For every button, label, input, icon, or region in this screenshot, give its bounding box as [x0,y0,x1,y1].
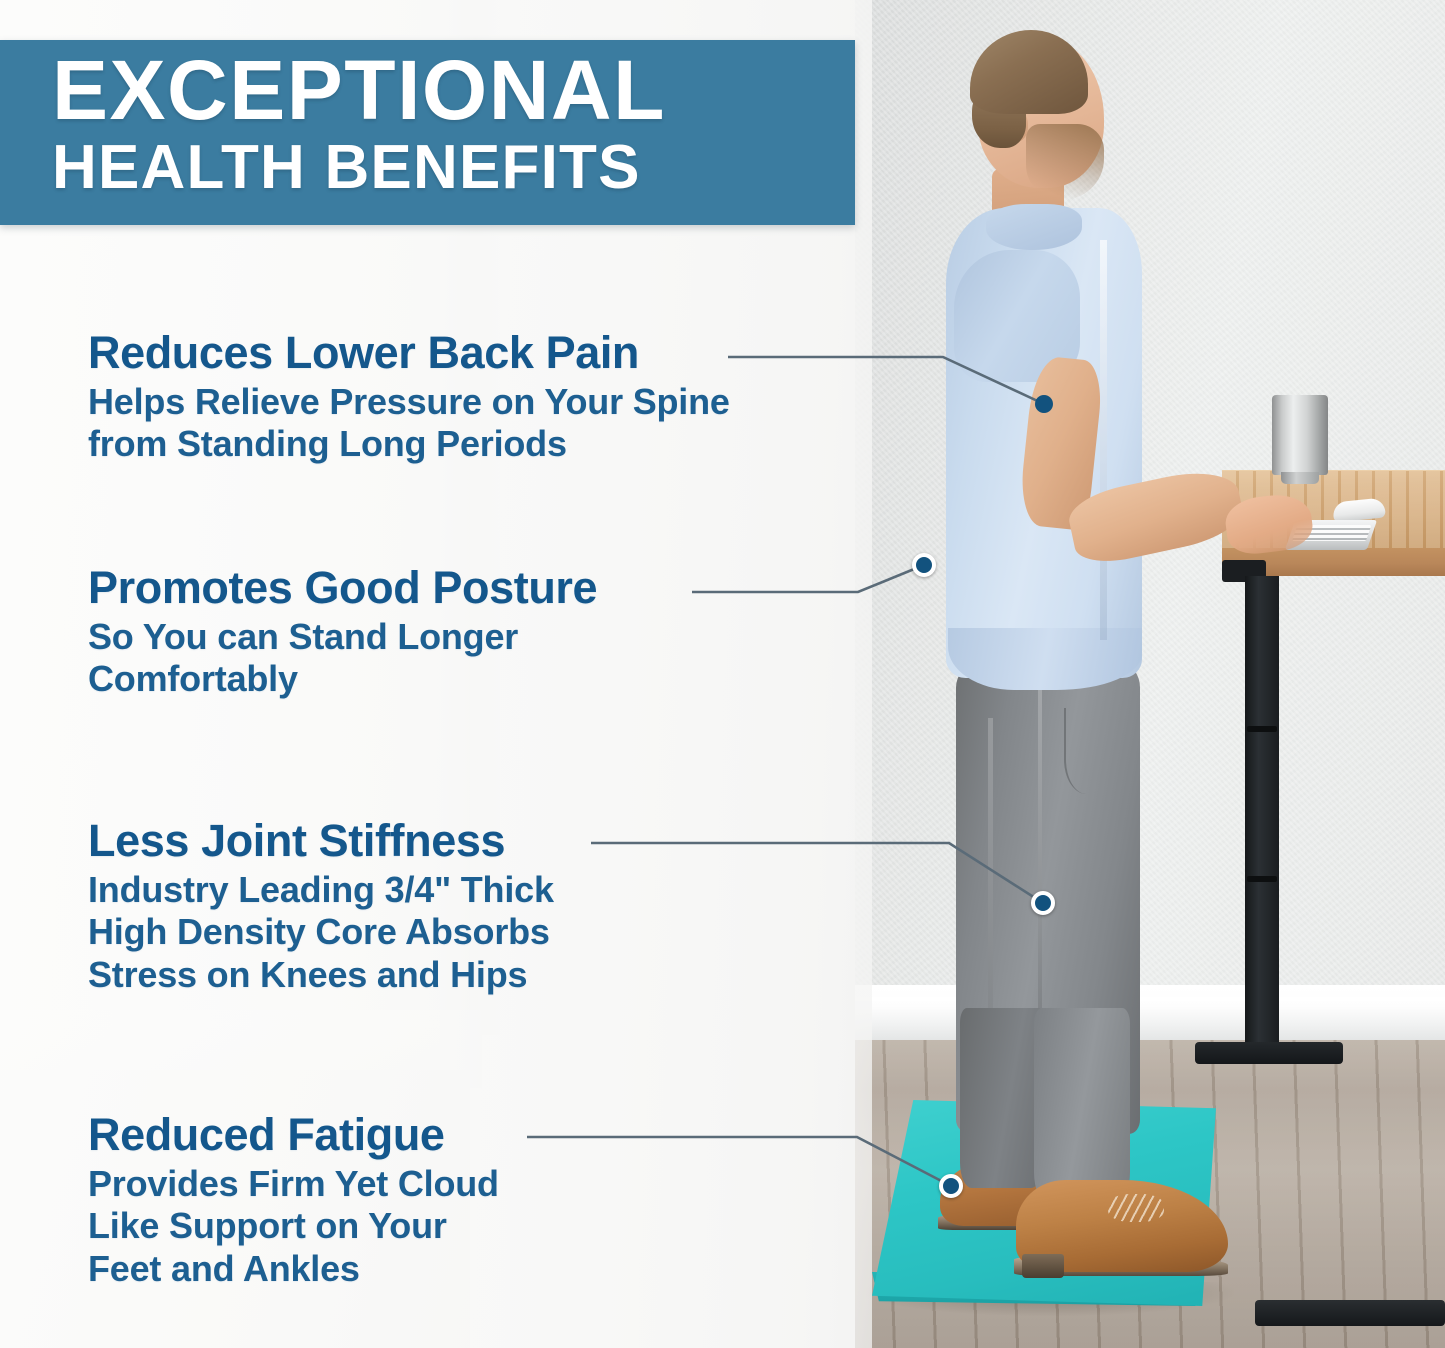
callout-dot-knee [1031,891,1055,915]
benefit-title-4: Reduced Fatigue [88,1112,499,1157]
benefit-desc-line: Comfortably [88,658,597,700]
benefit-desc-4: Provides Firm Yet Cloud Like Support on … [88,1157,499,1290]
hair [970,30,1088,114]
header-banner: EXCEPTIONAL HEALTH BENEFITS [0,40,855,225]
benefit-desc-3: Industry Leading 3/4" Thick High Density… [88,863,554,996]
benefit-block-3: Less Joint Stiffness Industry Leading 3/… [88,818,554,996]
front-leg [1034,1008,1130,1204]
desk-leg [1245,576,1279,1046]
benefit-block-2: Promotes Good Posture So You can Stand L… [88,565,597,701]
standing-person [930,28,1250,1268]
header-title-line1: EXCEPTIONAL [52,50,855,131]
benefit-desc-line: Feet and Ankles [88,1248,499,1290]
benefit-desc-line: Stress on Knees and Hips [88,954,554,996]
benefit-desc-line: So You can Stand Longer [88,616,597,658]
benefit-title-2: Promotes Good Posture [88,565,597,610]
header-title-line2: HEALTH BENEFITS [52,131,855,202]
benefit-desc-line: from Standing Long Periods [88,423,730,465]
desk-foot-plate-front [1255,1300,1445,1326]
callout-dot-mat [939,1174,963,1198]
shoe-heel [1022,1254,1064,1278]
benefit-desc-line: Like Support on Your [88,1205,499,1247]
benefit-desc-line: Industry Leading 3/4" Thick [88,869,554,911]
callout-dot-upper-back [912,553,936,577]
benefit-block-1: Reduces Lower Back Pain Helps Relieve Pr… [88,330,730,466]
benefit-title-1: Reduces Lower Back Pain [88,330,730,375]
benefit-desc-2: So You can Stand Longer Comfortably [88,610,597,701]
benefit-desc-line: Provides Firm Yet Cloud [88,1163,499,1205]
shirt-placket [1100,240,1107,640]
benefit-desc-1: Helps Relieve Pressure on Your Spine fro… [88,375,730,466]
infographic-root: EXCEPTIONAL HEALTH BENEFITS Reduces Lowe… [0,0,1445,1348]
callout-dot-lower-back [1035,395,1053,413]
shoe-laces [1108,1194,1164,1222]
beard [1026,124,1104,200]
stainless-tumbler [1272,395,1328,475]
trouser-pocket [1064,708,1120,794]
benefit-desc-line: High Density Core Absorbs [88,911,554,953]
benefit-title-3: Less Joint Stiffness [88,818,554,863]
benefit-desc-line: Helps Relieve Pressure on Your Spine [88,381,730,423]
benefit-block-4: Reduced Fatigue Provides Firm Yet Cloud … [88,1112,499,1290]
shirt-hem [948,628,1142,690]
shirt-collar [986,204,1082,250]
